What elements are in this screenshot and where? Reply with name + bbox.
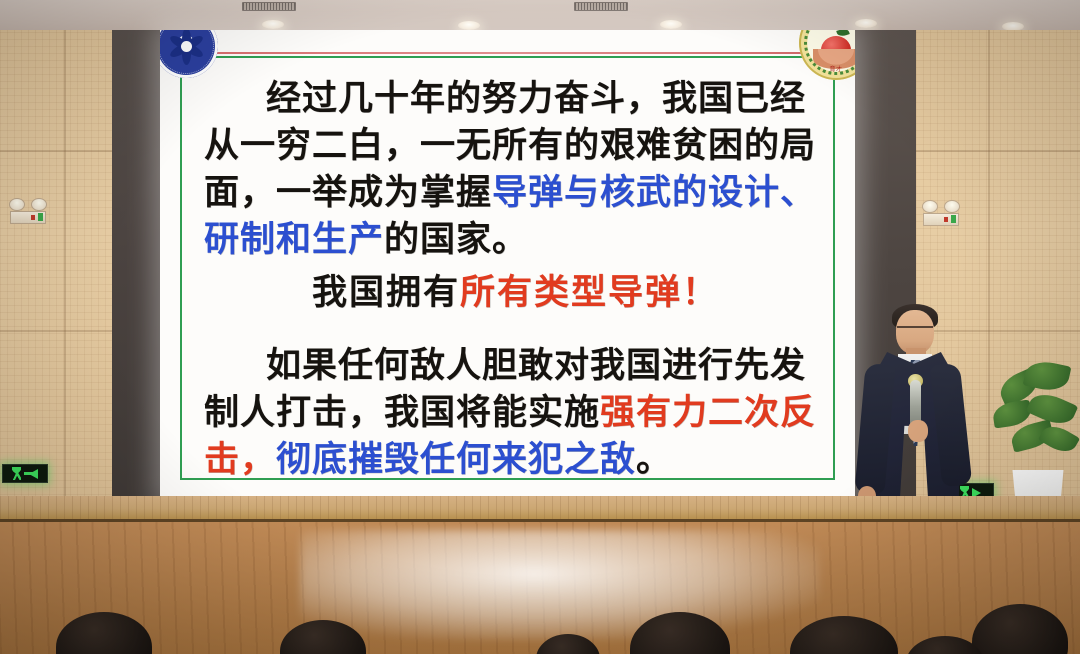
slide-run-blue-2: 彻底摧毁任何来犯之敌 <box>276 440 636 480</box>
slide-paragraph-3: 如果任何敌人胆敢对我国进行先发制人打击，我国将能实施强有力二次反击，彻底摧毁任何… <box>204 343 827 484</box>
exit-sign-left <box>2 464 48 483</box>
stage-front-skirt <box>0 496 1080 524</box>
downlight-icon <box>458 21 480 30</box>
stage-light-reflection <box>300 530 820 640</box>
slide-headline: 我国拥有所有类型导弹！ <box>204 270 827 317</box>
ceiling-vent <box>574 2 628 11</box>
apple-in-hands-logo-icon: 育才 <box>799 30 855 80</box>
ceiling-vent <box>242 2 296 11</box>
slide-run-black-4: 。 <box>636 440 672 480</box>
running-man-icon <box>12 467 21 480</box>
dark-wall-panel-left <box>112 30 160 522</box>
downlight-icon <box>660 20 682 29</box>
downlight-icon <box>262 20 284 29</box>
slide-accent-rule <box>180 52 835 54</box>
projection-screen: 育才 经过几十年的努力奋斗，我国已经从一穷二白，一无所有的艰难贫困的局面，一举成… <box>160 30 855 502</box>
presentation-slide: 育才 经过几十年的努力奋斗，我国已经从一穷二白，一无所有的艰难贫困的局面，一举成… <box>160 30 855 502</box>
slide-paragraph-1: 经过几十年的努力奋斗，我国已经从一穷二白，一无所有的艰难贫困的局面，一举成为掌握… <box>204 76 827 264</box>
slide-run-black-2: 的国家。 <box>384 220 528 260</box>
headline-run-black: 我国拥有 <box>312 273 460 313</box>
emergency-light-left <box>8 198 48 224</box>
arrow-left-icon <box>29 469 38 479</box>
auditorium-scene: 育才 经过几十年的努力奋斗，我国已经从一穷二白，一无所有的艰难贫困的局面，一举成… <box>0 0 1080 654</box>
slide-text-body: 经过几十年的努力奋斗，我国已经从一穷二白，一无所有的艰难贫困的局面，一举成为掌握… <box>204 76 827 490</box>
downlight-icon <box>855 19 877 28</box>
apple-logo-caption: 育才 <box>799 64 855 73</box>
presenter-hand-right <box>908 420 928 442</box>
emergency-light-right <box>921 200 961 226</box>
glasses-icon <box>897 326 933 334</box>
headline-run-red: 所有类型导弹！ <box>460 273 719 313</box>
wall-panel-left <box>0 30 112 530</box>
